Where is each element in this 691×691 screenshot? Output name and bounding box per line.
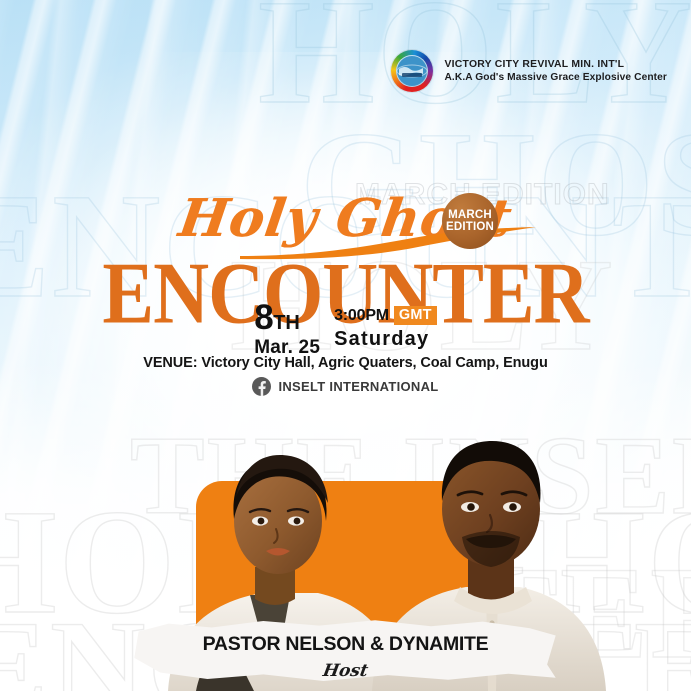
venue-line: VENUE: Victory City Hall, Agric Quaters,… (0, 355, 691, 371)
date-time-block: 8TH Mar. 25 3:00PM GMT Saturday (0, 303, 691, 359)
event-flyer: HOLY GH GHOST ENCOUNTER HOLY MARCH EDITI… (0, 0, 691, 691)
ministry-subtitle: A.K.A God's Massive Grace Explosive Cent… (444, 71, 667, 84)
speaker-role: Host (0, 661, 691, 681)
ministry-names: VICTORY CITY REVIVAL MIN. INT'L A.K.A Go… (444, 58, 667, 84)
globe-inner-icon (396, 55, 428, 87)
day-ordinal: TH (273, 312, 300, 334)
edition-badge: MARCH EDITION (442, 193, 498, 249)
script-title-row: Holy Ghost (0, 188, 691, 250)
date-group: 8TH Mar. 25 (254, 303, 320, 359)
speaker-photo-area: PASTOR NELSON & DYNAMITE Host (0, 371, 691, 691)
edition-badge-line1: MARCH (448, 209, 492, 221)
weekday: Saturday (334, 328, 437, 351)
day-number: 8 (254, 298, 273, 337)
ministry-name: VICTORY CITY REVIVAL MIN. INT'L (444, 58, 667, 71)
edition-badge-line2: EDITION (446, 221, 494, 233)
ministry-header: VICTORY CITY REVIVAL MIN. INT'L A.K.A Go… (391, 50, 667, 92)
script-title: Holy Ghost (0, 188, 691, 249)
speaker-names: PASTOR NELSON & DYNAMITE (0, 633, 691, 656)
time-row: 3:00PM GMT (334, 306, 437, 325)
day-line: 8TH (254, 303, 320, 334)
event-time: 3:00PM (334, 307, 389, 325)
globe-emblem-icon (391, 50, 433, 92)
time-group: 3:00PM GMT Saturday (334, 303, 437, 351)
timezone-badge: GMT (394, 306, 437, 325)
